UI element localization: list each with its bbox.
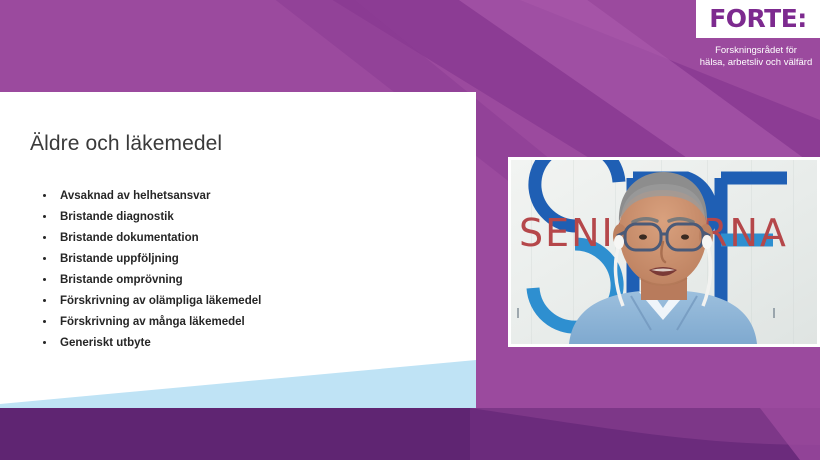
person-eye-left bbox=[639, 234, 647, 239]
bullet-marker-icon bbox=[43, 257, 46, 260]
slide-bullet-item: Bristande dokumentation bbox=[38, 228, 456, 249]
slide-bullet-text: Bristande dokumentation bbox=[60, 232, 199, 244]
slide-bullet-item: Förskrivning av många läkemedel bbox=[38, 312, 456, 333]
bullet-marker-icon bbox=[43, 320, 46, 323]
forte-tagline: Forskningsrådet för hälsa, arbetsliv och… bbox=[692, 38, 820, 69]
slide-bullet-text: Avsaknad av helhetsansvar bbox=[60, 190, 210, 202]
forte-logo-box: FORTE: bbox=[696, 0, 820, 38]
slide-bullet-item: Generiskt utbyte bbox=[38, 333, 456, 354]
slide-bullet-text: Generiskt utbyte bbox=[60, 337, 151, 349]
slide-bullet-item: Bristande omprövning bbox=[38, 270, 456, 291]
video-feed-image: SENIORERNA bbox=[511, 160, 817, 344]
backdrop-tick-right bbox=[773, 308, 775, 318]
slide-bullet-text: Bristande diagnostik bbox=[60, 211, 174, 223]
slide-bullet-text: Bristande omprövning bbox=[60, 274, 183, 286]
bullet-marker-icon bbox=[43, 215, 46, 218]
video-feed[interactable]: SENIORERNA bbox=[511, 160, 817, 344]
earbud-left bbox=[614, 235, 624, 249]
backdrop-tick-left bbox=[517, 308, 519, 318]
forte-wordmark: FORTE: bbox=[709, 6, 807, 31]
slide-title: Äldre och läkemedel bbox=[30, 132, 222, 156]
bullet-marker-icon bbox=[43, 236, 46, 239]
slide-bullet-item: Bristande diagnostik bbox=[38, 207, 456, 228]
slide-accent-wedge bbox=[0, 360, 476, 408]
forte-tagline-line1: Forskningsrådet för bbox=[696, 45, 816, 57]
slide-bullet-list: Avsaknad av helhetsansvarBristande diagn… bbox=[38, 186, 456, 354]
bullet-marker-icon bbox=[43, 278, 46, 281]
slide-bullet-text: Förskrivning av många läkemedel bbox=[60, 316, 245, 328]
forte-tagline-line2: hälsa, arbetsliv och välfärd bbox=[696, 57, 816, 69]
presentation-slide: Äldre och läkemedel Avsaknad av helhetsa… bbox=[0, 92, 476, 408]
bullet-marker-icon bbox=[43, 341, 46, 344]
slide-bullet-item: Förskrivning av olämpliga läkemedel bbox=[38, 291, 456, 312]
person-eye-right bbox=[681, 234, 689, 239]
bullet-marker-icon bbox=[43, 194, 46, 197]
slide-bullet-text: Förskrivning av olämpliga läkemedel bbox=[60, 295, 261, 307]
bullet-marker-icon bbox=[43, 299, 46, 302]
earbud-right bbox=[702, 235, 712, 249]
forte-logo: FORTE: Forskningsrådet för hälsa, arbets… bbox=[692, 0, 820, 69]
slide-accent-wedge-shape bbox=[0, 360, 476, 408]
slide-bullet-item: Bristande uppföljning bbox=[38, 249, 456, 270]
video-thumbnail-panel[interactable]: SENIORERNA bbox=[508, 157, 820, 347]
slide-bullet-text: Bristande uppföljning bbox=[60, 253, 179, 265]
slide-bullet-item: Avsaknad av helhetsansvar bbox=[38, 186, 456, 207]
